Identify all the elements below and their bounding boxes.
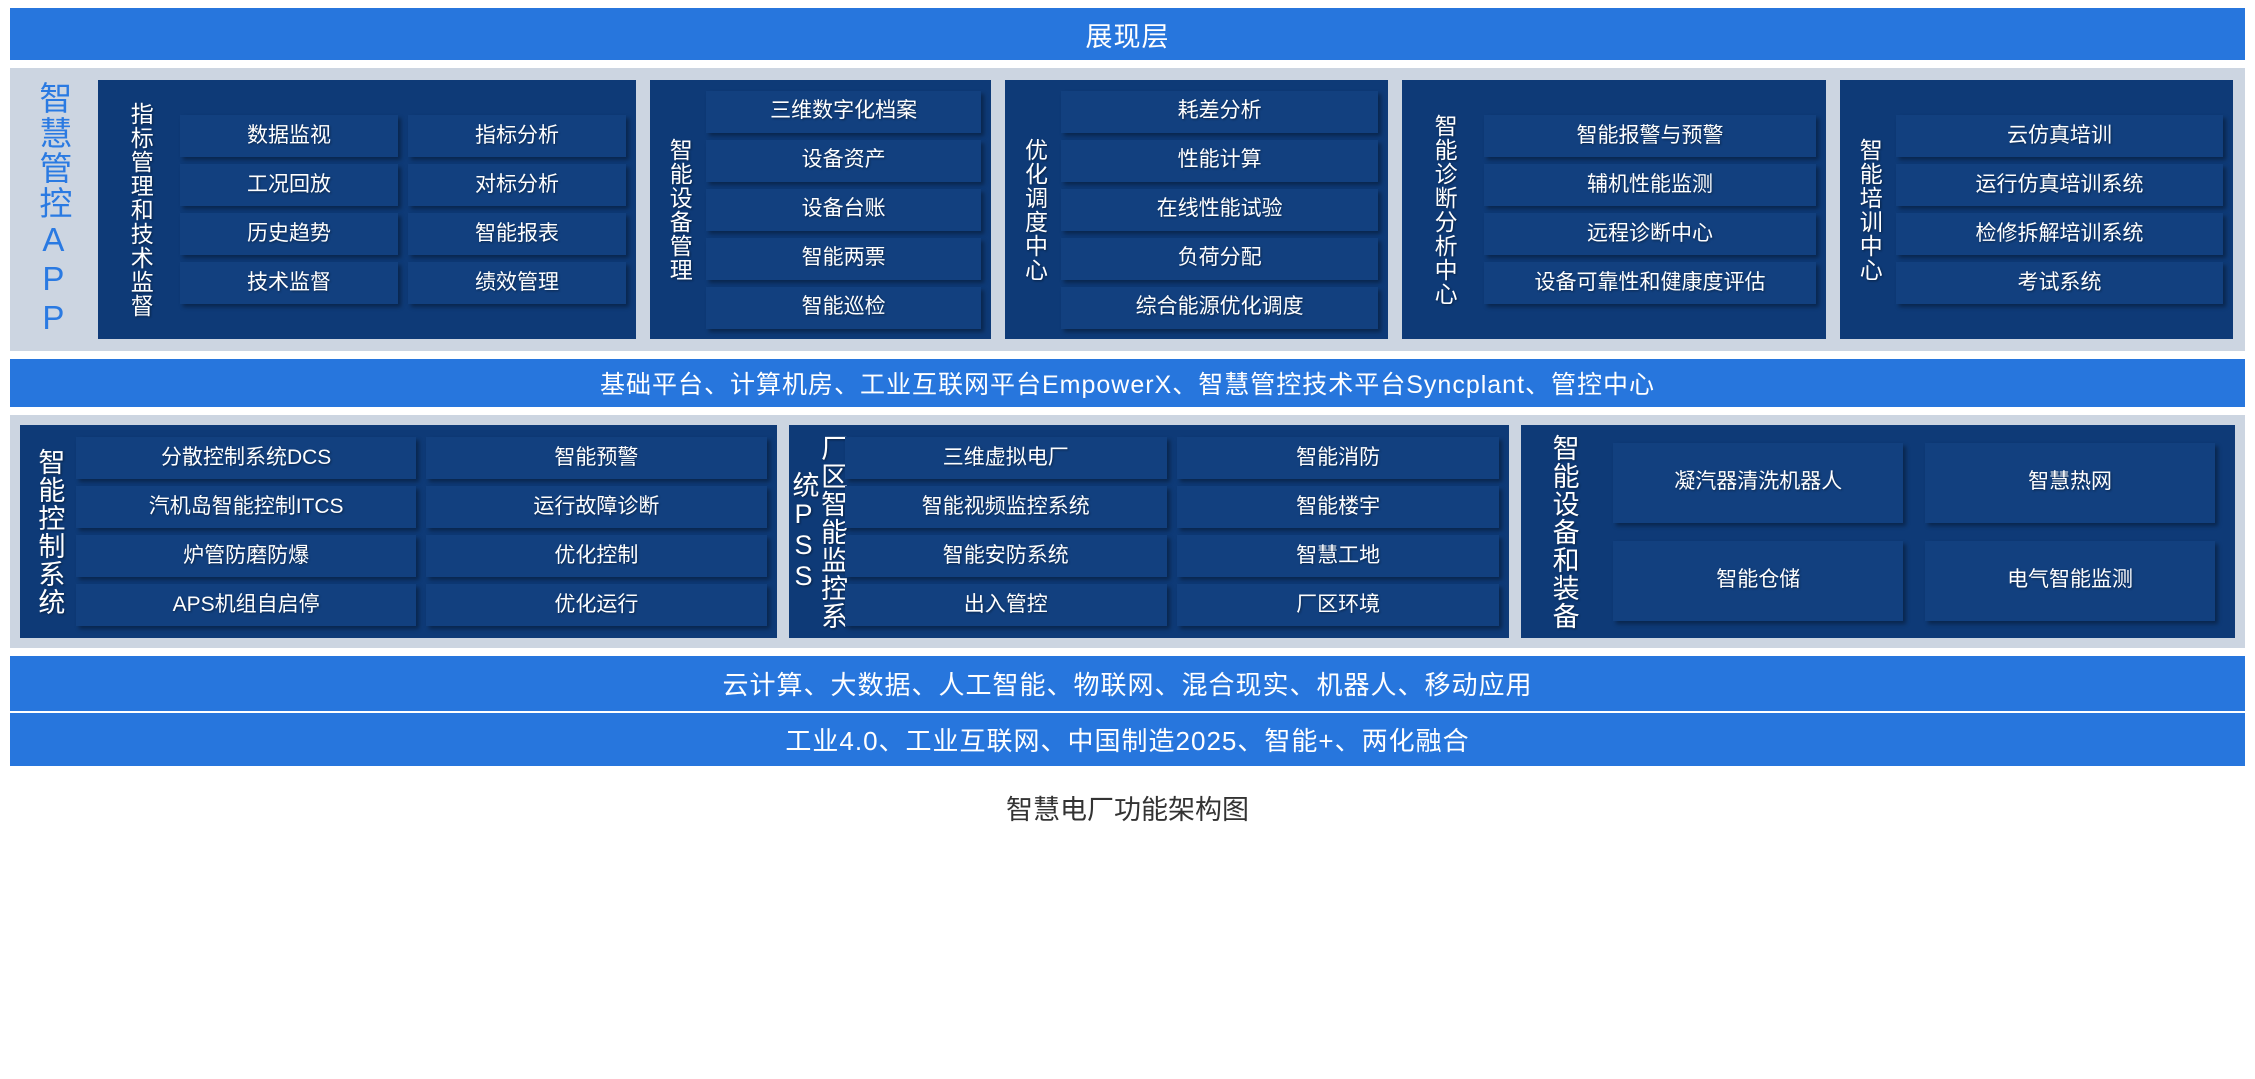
chip-reliability-health-assessment[interactable]: 设备可靠性和健康度评估 bbox=[1484, 262, 1816, 304]
group-diagnosis-analysis-center-title: 智能诊断分析中心 bbox=[1412, 114, 1476, 306]
chip-smart-heating-network[interactable]: 智慧热网 bbox=[1925, 443, 2215, 523]
chip-condition-playback[interactable]: 工况回放 bbox=[180, 164, 398, 206]
group-smart-equipment-items: 凝汽器清洗机器人 智慧热网 智能仓储 电气智能监测 bbox=[1603, 433, 2225, 630]
group-optimization-dispatch-center-items: 耗差分析 性能计算 在线性能试验 负荷分配 综合能源优化调度 bbox=[1061, 88, 1378, 331]
chip-remote-diagnosis-center[interactable]: 远程诊断中心 bbox=[1484, 213, 1816, 255]
chip-operation-simulation-system[interactable]: 运行仿真培训系统 bbox=[1896, 164, 2223, 206]
chip-optimized-operation[interactable]: 优化运行 bbox=[426, 584, 766, 626]
platform-band-label: 基础平台、计算机房、工业互联网平台EmpowerX、智慧管控技术平台Syncpl… bbox=[600, 365, 1655, 401]
chip-equipment-assets[interactable]: 设备资产 bbox=[706, 140, 981, 182]
chip-exam-system[interactable]: 考试系统 bbox=[1896, 262, 2223, 304]
chip-performance-calculation[interactable]: 性能计算 bbox=[1061, 140, 1378, 182]
chip-online-performance-test[interactable]: 在线性能试验 bbox=[1061, 189, 1378, 231]
chip-benchmark-analysis[interactable]: 对标分析 bbox=[408, 164, 626, 206]
chip-load-distribution[interactable]: 负荷分配 bbox=[1061, 238, 1378, 280]
chip-condenser-cleaning-robot[interactable]: 凝汽器清洗机器人 bbox=[1613, 443, 1903, 523]
chip-smart-building[interactable]: 智能楼宇 bbox=[1177, 486, 1499, 528]
group-training-center-items: 云仿真培训 运行仿真培训系统 检修拆解培训系统 考试系统 bbox=[1896, 88, 2223, 331]
group-equipment-management-items: 三维数字化档案 设备资产 设备台账 智能两票 智能巡检 bbox=[706, 88, 981, 331]
chip-dcs[interactable]: 分散控制系统DCS bbox=[76, 437, 416, 479]
group-optimization-dispatch-center[interactable]: 优化调度中心 耗差分析 性能计算 在线性能试验 负荷分配 综合能源优化调度 bbox=[1005, 80, 1388, 339]
group-intelligent-control-system-title: 智能控制系统 bbox=[30, 448, 68, 616]
app-layer: 智慧管控APP 指标管理和技术监督 数据监视 指标分析 工况回放 对标分析 历史… bbox=[10, 68, 2245, 351]
policy-band-label: 工业4.0、工业互联网、中国制造2025、智能+、两化融合 bbox=[785, 721, 1469, 758]
chip-smart-report[interactable]: 智能报表 bbox=[408, 213, 626, 255]
group-plant-monitoring-pss-items: 三维虚拟电厂 智能消防 智能视频监控系统 智能楼宇 智能安防系统 智慧工地 出入… bbox=[845, 433, 1500, 630]
chip-boiler-tube-protection[interactable]: 炉管防磨防爆 bbox=[76, 535, 416, 577]
chip-equipment-ledger[interactable]: 设备台账 bbox=[706, 189, 981, 231]
chip-data-monitoring[interactable]: 数据监视 bbox=[180, 115, 398, 157]
group-plant-monitoring-pss-title: 厂区智能监控系统PSS bbox=[799, 433, 837, 630]
chip-smart-fire-protection[interactable]: 智能消防 bbox=[1177, 437, 1499, 479]
diagram-caption: 智慧电厂功能架构图 bbox=[10, 766, 2245, 827]
chip-itcs[interactable]: 汽机岛智能控制ITCS bbox=[76, 486, 416, 528]
group-smart-equipment[interactable]: 智能设备和装备 凝汽器清洗机器人 智慧热网 智能仓储 电气智能监测 bbox=[1521, 425, 2235, 638]
chip-smart-inspection[interactable]: 智能巡检 bbox=[706, 287, 981, 329]
app-layer-side-label: 智慧管控APP bbox=[22, 80, 84, 339]
chip-smart-construction-site[interactable]: 智慧工地 bbox=[1177, 535, 1499, 577]
technology-band-label: 云计算、大数据、人工智能、物联网、混合现实、机器人、移动应用 bbox=[722, 665, 1532, 702]
foundation-bands: 云计算、大数据、人工智能、物联网、混合现实、机器人、移动应用 工业4.0、工业互… bbox=[10, 656, 2245, 766]
chip-optimized-control[interactable]: 优化控制 bbox=[426, 535, 766, 577]
architecture-diagram: 展现层 智慧管控APP 指标管理和技术监督 数据监视 指标分析 工况回放 对标分… bbox=[0, 8, 2255, 1079]
chip-cloud-simulation-training[interactable]: 云仿真培训 bbox=[1896, 115, 2223, 157]
chip-3d-digital-archive[interactable]: 三维数字化档案 bbox=[706, 91, 981, 133]
platform-band: 基础平台、计算机房、工业互联网平台EmpowerX、智慧管控技术平台Syncpl… bbox=[10, 359, 2245, 407]
chip-smart-video-surveillance[interactable]: 智能视频监控系统 bbox=[845, 486, 1167, 528]
chip-auxiliary-performance-monitor[interactable]: 辅机性能监测 bbox=[1484, 164, 1816, 206]
chip-smart-warehousing[interactable]: 智能仓储 bbox=[1613, 541, 1903, 621]
group-intelligent-control-system-items: 分散控制系统DCS 智能预警 汽机岛智能控制ITCS 运行故障诊断 炉管防磨防爆… bbox=[76, 433, 767, 630]
presentation-layer-label: 展现层 bbox=[1086, 15, 1170, 54]
group-equipment-management-title: 智能设备管理 bbox=[660, 138, 698, 282]
chip-smart-security-system[interactable]: 智能安防系统 bbox=[845, 535, 1167, 577]
chip-maintenance-disassembly-system[interactable]: 检修拆解培训系统 bbox=[1896, 213, 2223, 255]
chip-consumption-deviation-analysis[interactable]: 耗差分析 bbox=[1061, 91, 1378, 133]
chip-smart-two-tickets[interactable]: 智能两票 bbox=[706, 238, 981, 280]
group-training-center[interactable]: 智能培训中心 云仿真培训 运行仿真培训系统 检修拆解培训系统 考试系统 bbox=[1840, 80, 2233, 339]
chip-electrical-smart-monitoring[interactable]: 电气智能监测 bbox=[1925, 541, 2215, 621]
group-plant-monitoring-pss[interactable]: 厂区智能监控系统PSS 三维虚拟电厂 智能消防 智能视频监控系统 智能楼宇 智能… bbox=[789, 425, 1510, 638]
chip-plant-environment[interactable]: 厂区环境 bbox=[1177, 584, 1499, 626]
chip-smart-alarm-warning[interactable]: 智能报警与预警 bbox=[1484, 115, 1816, 157]
group-diagnosis-analysis-center[interactable]: 智能诊断分析中心 智能报警与预警 辅机性能监测 远程诊断中心 设备可靠性和健康度… bbox=[1402, 80, 1826, 339]
chip-smart-early-warning[interactable]: 智能预警 bbox=[426, 437, 766, 479]
group-diagnosis-analysis-center-items: 智能报警与预警 辅机性能监测 远程诊断中心 设备可靠性和健康度评估 bbox=[1484, 88, 1816, 331]
chip-historical-trend[interactable]: 历史趋势 bbox=[180, 213, 398, 255]
chip-aps-auto-start-stop[interactable]: APS机组自启停 bbox=[76, 584, 416, 626]
chip-performance-management[interactable]: 绩效管理 bbox=[408, 262, 626, 304]
chip-operation-fault-diagnosis[interactable]: 运行故障诊断 bbox=[426, 486, 766, 528]
chip-integrated-energy-optimization[interactable]: 综合能源优化调度 bbox=[1061, 287, 1378, 329]
group-optimization-dispatch-center-title: 优化调度中心 bbox=[1015, 138, 1053, 282]
technology-band: 云计算、大数据、人工智能、物联网、混合现实、机器人、移动应用 bbox=[10, 656, 2245, 711]
chip-3d-virtual-power-plant[interactable]: 三维虚拟电厂 bbox=[845, 437, 1167, 479]
group-training-center-title: 智能培训中心 bbox=[1850, 138, 1888, 282]
chip-access-control[interactable]: 出入管控 bbox=[845, 584, 1167, 626]
chip-indicator-analysis[interactable]: 指标分析 bbox=[408, 115, 626, 157]
group-indicator-management[interactable]: 指标管理和技术监督 数据监视 指标分析 工况回放 对标分析 历史趋势 智能报表 … bbox=[98, 80, 636, 339]
group-smart-equipment-title: 智能设备和装备 bbox=[1531, 434, 1595, 630]
control-layer: 智能控制系统 分散控制系统DCS 智能预警 汽机岛智能控制ITCS 运行故障诊断… bbox=[10, 415, 2245, 648]
group-equipment-management[interactable]: 智能设备管理 三维数字化档案 设备资产 设备台账 智能两票 智能巡检 bbox=[650, 80, 991, 339]
group-indicator-management-items: 数据监视 指标分析 工况回放 对标分析 历史趋势 智能报表 技术监督 绩效管理 bbox=[180, 88, 626, 331]
presentation-layer-band: 展现层 bbox=[10, 8, 2245, 60]
chip-technical-supervision[interactable]: 技术监督 bbox=[180, 262, 398, 304]
policy-band: 工业4.0、工业互联网、中国制造2025、智能+、两化融合 bbox=[10, 711, 2245, 766]
group-intelligent-control-system[interactable]: 智能控制系统 分散控制系统DCS 智能预警 汽机岛智能控制ITCS 运行故障诊断… bbox=[20, 425, 777, 638]
group-indicator-management-title: 指标管理和技术监督 bbox=[108, 102, 172, 318]
